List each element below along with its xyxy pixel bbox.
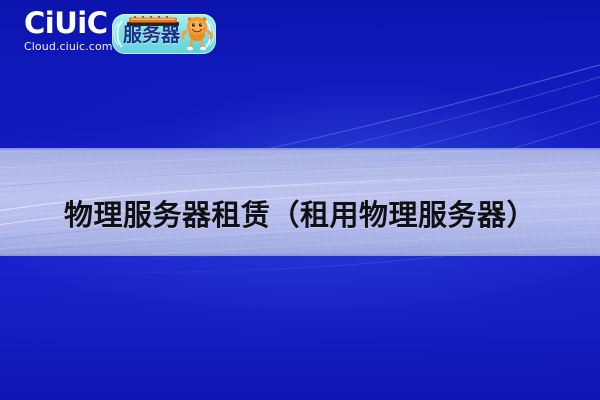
- band-edge-bottom: [0, 254, 600, 256]
- page-title: 物理服务器租赁（租用物理服务器）: [0, 192, 600, 234]
- brand-logo-mark: CiUiC: [24, 8, 120, 38]
- brand-logo-subtitle: Cloud.ciuic.com: [24, 40, 120, 53]
- band-edge-top: [0, 148, 600, 150]
- background-glow-bottom: [0, 250, 600, 400]
- brand-logo[interactable]: CiUiC Cloud.ciuic.com: [24, 8, 120, 53]
- promotional-banner: 物理服务器租赁（租用物理服务器） CiUiC Cloud.ciuic.com 服…: [0, 0, 600, 400]
- orange-mascot-icon: [180, 15, 214, 53]
- server-badge[interactable]: 服务器: [112, 14, 216, 54]
- badge-label: 服务器: [123, 25, 180, 45]
